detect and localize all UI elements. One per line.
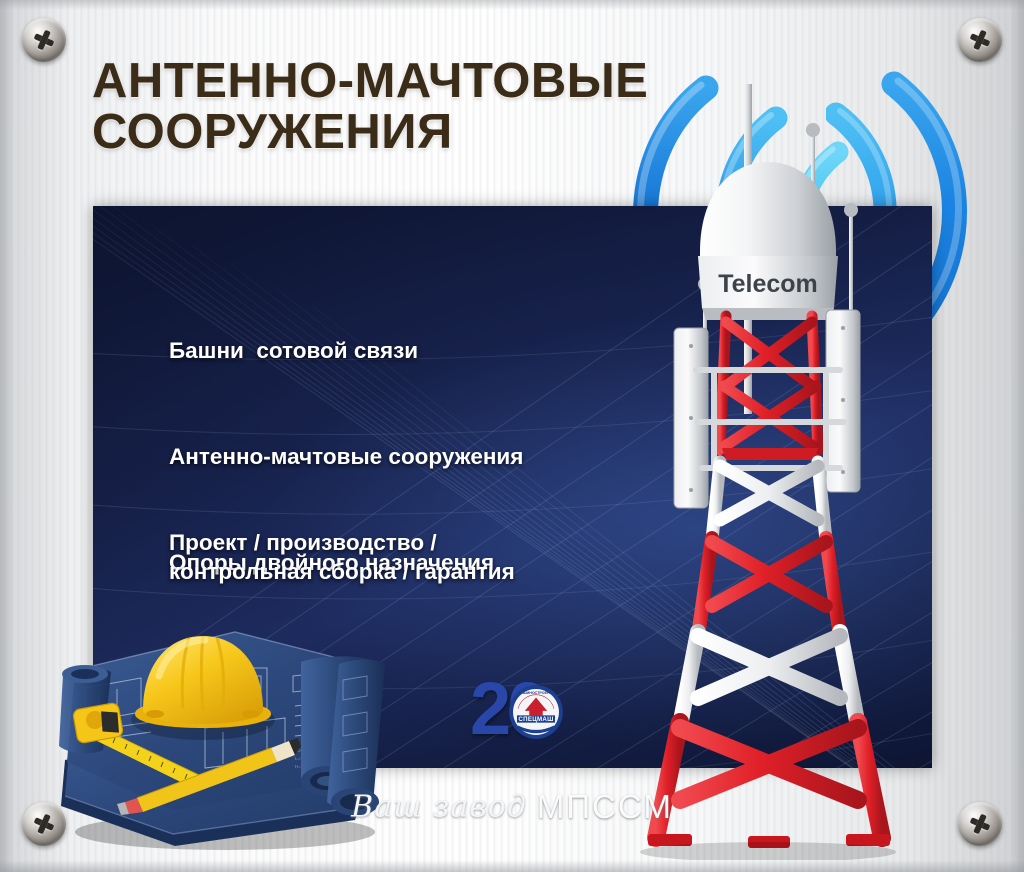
- page-title: АНТЕННО-МАЧТОВЫЕ СООРУЖЕНИЯ: [92, 56, 692, 158]
- screw-icon-top-right: [958, 18, 1002, 62]
- screw-icon-top-left: [22, 18, 66, 62]
- footer-company-name: МПССМ: [537, 788, 673, 825]
- svg-text:МАШИНОСТРОЕНИЕ: МАШИНОСТРОЕНИЕ: [517, 691, 555, 695]
- page-title-line-2: СООРУЖЕНИЯ: [92, 107, 692, 158]
- plate-edge-bottom: [0, 860, 1024, 872]
- footer-script-text: Ваш завод: [351, 790, 527, 825]
- tagline-line-2: контрольная сборка / гарантия: [169, 557, 689, 586]
- list-item: Антенно-мачтовые сооружения: [169, 439, 689, 474]
- service-tagline: Проект / производство / контрольная сбор…: [169, 528, 689, 586]
- specmash-logo-icon: СПЕЦМАШ МАШИНОСТРОЕНИЕ: [508, 684, 564, 740]
- page-title-line-1: АНТЕННО-МАЧТОВЫЕ: [92, 54, 648, 108]
- plate-edge-right: [1010, 0, 1024, 872]
- footer: Ваш заводМПССМ: [0, 788, 1024, 834]
- anniversary-badge: 20 СПЕЦМАШ МАШИНОСТРОЕНИЕ: [470, 672, 578, 756]
- tagline-line-1: Проект / производство /: [169, 528, 689, 557]
- poster-root: АНТЕННО-МАЧТОВЫЕ СООРУЖЕНИЯ: [0, 0, 1024, 872]
- svg-text:СПЕЦМАШ: СПЕЦМАШ: [518, 716, 553, 723]
- tower-dome-label: Telecom: [718, 270, 818, 298]
- plate-edge-top: [0, 0, 1024, 10]
- list-item: Башни сотовой связи: [169, 333, 689, 368]
- telecom-tower-icon: Telecom: [640, 70, 1000, 860]
- plate-edge-left: [0, 0, 14, 872]
